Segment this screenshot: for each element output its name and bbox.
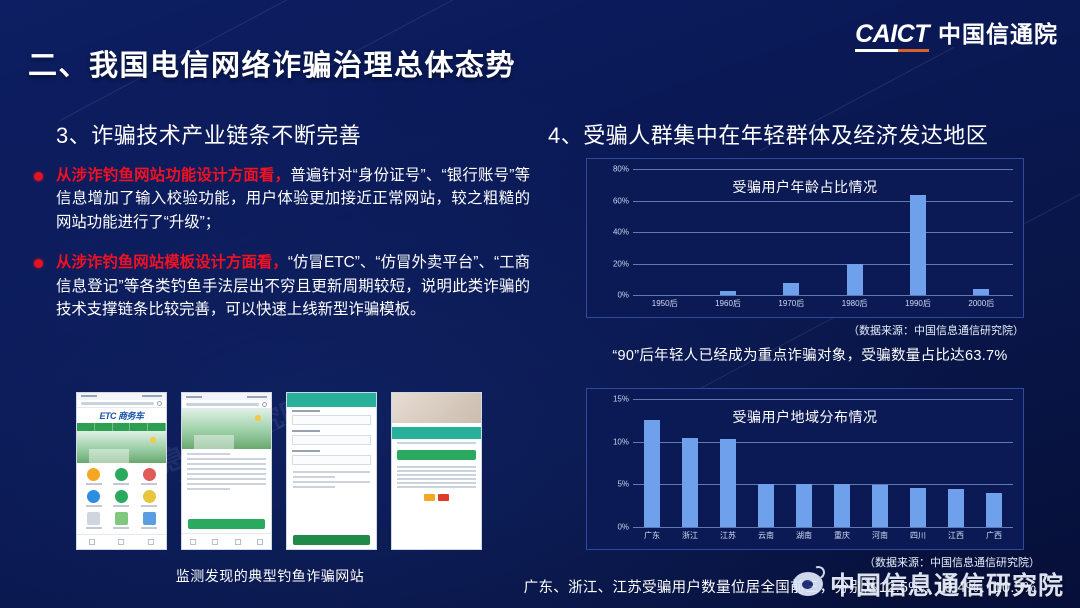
phone-url-bar [77, 400, 166, 409]
x-axis-tick-label: 河南 [861, 530, 899, 544]
building-shape [89, 449, 129, 463]
phone-status-bar [77, 393, 166, 400]
age-distribution-chart: 受骗用户年龄占比情况 0%20%40%60%80%1950后1960后1970后… [586, 158, 1024, 318]
chart-bar [948, 489, 964, 527]
right-section-heading: 4、受骗人群集中在年轻群体及经济发达地区 [548, 118, 988, 150]
y-axis-tick-label: 5% [595, 480, 629, 489]
phone-action-button [397, 450, 476, 460]
phone-input-field [292, 435, 371, 445]
x-axis-tick-label: 四川 [899, 530, 937, 544]
chart-bar [644, 420, 660, 527]
chart-bar [872, 485, 888, 527]
x-axis-tick-label: 1950后 [633, 298, 696, 312]
chart-bar [720, 291, 736, 295]
phone-notice-text [287, 467, 376, 531]
phone-header-image [392, 393, 481, 423]
left-column: 3、诈骗技术产业链条不断完善 从涉诈钓鱼网站功能设计方面看，普遍针对“身份证号”… [0, 96, 540, 608]
chart-bar [910, 488, 926, 527]
phone-input-field [292, 455, 371, 465]
phone-screenshot-2 [181, 392, 272, 550]
y-axis-tick-label: 10% [595, 437, 629, 446]
y-axis-tick-label: 0% [595, 523, 629, 532]
phone-badge-row [397, 494, 476, 501]
phone-submit-button [188, 519, 265, 529]
x-axis-tick-label: 广西 [975, 530, 1013, 544]
building-shape [194, 435, 234, 449]
sun-icon [150, 437, 156, 443]
y-axis-tick-label: 0% [595, 291, 629, 300]
bullet-highlight: 从涉诈钓鱼网站模板设计方面看， [56, 254, 288, 271]
chart-bar [834, 484, 850, 527]
phone-brand-text: ETC 商务车 [99, 409, 143, 422]
phone-body-text [392, 439, 481, 549]
phone-form-list [182, 449, 271, 515]
phone-title-bar [287, 393, 376, 407]
x-axis-tick-label: 1990后 [886, 298, 949, 312]
weibo-logo-icon [793, 572, 823, 596]
x-axis-tick-label: 江西 [937, 530, 975, 544]
phone-submit-button [293, 535, 370, 545]
chart-plot-area-1: 受骗用户年龄占比情况 0%20%40%60%80%1950后1960后1970后… [587, 159, 1023, 317]
x-axis-tick-label: 云南 [747, 530, 785, 544]
y-axis-tick-label: 15% [595, 395, 629, 404]
chart-bar [796, 484, 812, 527]
bullet-highlight: 从涉诈钓鱼网站功能设计方面看， [56, 167, 290, 184]
phone-url-bar [182, 400, 271, 409]
bullet-item: 从涉诈钓鱼网站模板设计方面看，“仿冒ETC”、“仿冒外卖平台”、“工商信息登记”… [30, 251, 530, 321]
phone-section-bar [392, 427, 481, 439]
chart-title-2: 受骗用户地域分布情况 [587, 407, 1023, 427]
x-axis-tick-labels: 广东浙江江苏云南湖南重庆河南四川江西广西 [633, 530, 1013, 544]
bullet-list: 从涉诈钓鱼网站功能设计方面看，普遍针对“身份证号”、“银行账号”等信息增加了输入… [30, 164, 530, 338]
logo-wordmark-en: CAICT [855, 22, 929, 52]
x-axis-tick-label: 1960后 [696, 298, 759, 312]
x-axis-tick-label: 湖南 [785, 530, 823, 544]
chart-title-1: 受骗用户年龄占比情况 [587, 177, 1023, 197]
chart-bar [720, 439, 736, 527]
source-note-1: （数据来源：中国信息通信研究院） [848, 322, 1024, 338]
region-distribution-chart: 受骗用户地域分布情况 0%5%10%15%广东浙江江苏云南湖南重庆河南四川江西广… [586, 388, 1024, 550]
chart-bar [973, 289, 989, 295]
x-axis-tick-labels: 1950后1960后1970后1980后1990后2000后 [633, 298, 1013, 312]
x-axis-tick-label: 重庆 [823, 530, 861, 544]
phone-brand-logo: ETC 商务车 [77, 408, 166, 423]
chart-bar [682, 438, 698, 527]
chart-plot-area-2: 受骗用户地域分布情况 0%5%10%15%广东浙江江苏云南湖南重庆河南四川江西广… [587, 389, 1023, 549]
chart-gridline [633, 527, 1013, 528]
phone-screenshot-1: ETC 商务车 [76, 392, 167, 550]
weibo-watermark: 中国信息通信研究院 [793, 566, 1064, 602]
x-axis-tick-label: 2000后 [950, 298, 1013, 312]
phone-nav-bar [77, 423, 166, 431]
phone-icon-grid [77, 463, 166, 534]
phone-footer-nav [77, 534, 166, 549]
chart-gridline [633, 295, 1013, 296]
x-axis-tick-label: 浙江 [671, 530, 709, 544]
right-column: 4、受骗人群集中在年轻群体及经济发达地区 受骗用户年龄占比情况 0%20%40%… [540, 96, 1080, 608]
y-axis-tick-label: 40% [595, 228, 629, 237]
chart-bar [783, 283, 799, 295]
chart-bar [910, 195, 926, 295]
phone-screenshot-3 [286, 392, 377, 550]
bullet-dot-icon [34, 259, 43, 268]
page-title: 二、我国电信网络诈骗治理总体态势 [28, 42, 516, 84]
weibo-watermark-text: 中国信息通信研究院 [830, 566, 1064, 602]
x-axis-tick-label: 1970后 [760, 298, 823, 312]
bullet-item: 从涉诈钓鱼网站功能设计方面看，普遍针对“身份证号”、“银行账号”等信息增加了输入… [30, 164, 530, 234]
chart-bar [758, 484, 774, 527]
bullet-dot-icon [34, 172, 43, 181]
slide-header: 二、我国电信网络诈骗治理总体态势 CAICT 中国信通院 [0, 0, 1080, 92]
x-axis-tick-label: 1980后 [823, 298, 886, 312]
y-axis-tick-label: 80% [595, 165, 629, 174]
phishing-screenshot-gallery: ETC 商务车 [76, 392, 482, 550]
phone-status-bar [182, 393, 271, 400]
y-axis-tick-label: 20% [595, 259, 629, 268]
key-finding-note: “90”后年轻人已经成为重点诈骗对象，受骗数量占比达63.7% [540, 344, 1080, 365]
phone-hero-banner [182, 409, 271, 449]
phone-hero-banner [77, 431, 166, 463]
x-axis-tick-label: 江苏 [709, 530, 747, 544]
left-section-heading: 3、诈骗技术产业链条不断完善 [56, 118, 361, 150]
phone-input-field [292, 415, 371, 425]
sun-icon [255, 415, 261, 421]
chart-bar [986, 493, 1002, 527]
y-axis-tick-label: 60% [595, 196, 629, 205]
phone-screenshot-4 [391, 392, 482, 550]
logo-wordmark-cn: 中国信通院 [938, 23, 1058, 52]
presentation-slide: 中国信息通信研究院 中国信息通信研究院 二、我国电信网络诈骗治理总体态势 CAI… [0, 0, 1080, 608]
phone-footer-nav [182, 533, 271, 549]
chart-bar [847, 264, 863, 296]
caict-logo: CAICT 中国信通院 [855, 22, 1058, 52]
x-axis-tick-label: 广东 [633, 530, 671, 544]
phone-gallery-caption: 监测发现的典型钓鱼诈骗网站 [0, 566, 540, 586]
